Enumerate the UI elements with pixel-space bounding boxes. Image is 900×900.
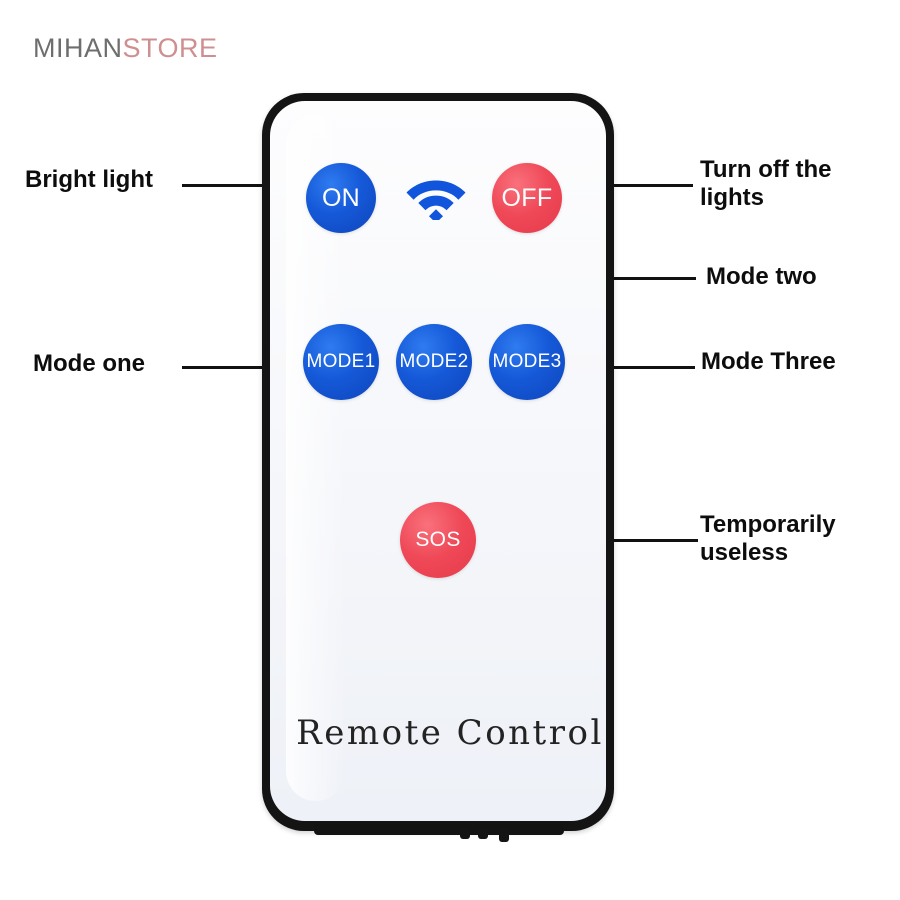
remote-bottom-nub [460,829,470,839]
off-button[interactable]: OFF [492,163,562,233]
mode3-button[interactable]: MODE3 [489,324,565,400]
callout-bright-light: Bright light [25,166,153,194]
sos-button[interactable]: SOS [400,502,476,578]
callout-mode-one: Mode one [33,350,145,378]
mode2-button[interactable]: MODE2 [396,324,472,400]
brand-logo-part2: STORE [123,33,218,63]
callout-mode-three: Mode Three [701,348,836,376]
brand-logo: MIHANSTORE [33,33,218,64]
wifi-signal-icon [405,168,467,220]
product-infographic: MIHANSTORE ON OFF MODE1 MODE2 MODE3 SOS … [0,0,900,900]
remote-control-wordmark: Remote Control [0,713,900,753]
mode1-button[interactable]: MODE1 [303,324,379,400]
callout-mode-two: Mode two [706,263,817,291]
callout-temporarily-useless: Temporarily useless [700,511,890,567]
remote-bottom-nub [499,829,509,842]
on-button[interactable]: ON [306,163,376,233]
callout-turn-off-the-lights: Turn off the lights [700,156,890,212]
remote-bottom-strip [314,824,564,835]
remote-bottom-nub [478,829,488,839]
brand-logo-part1: MIHAN [33,33,123,63]
